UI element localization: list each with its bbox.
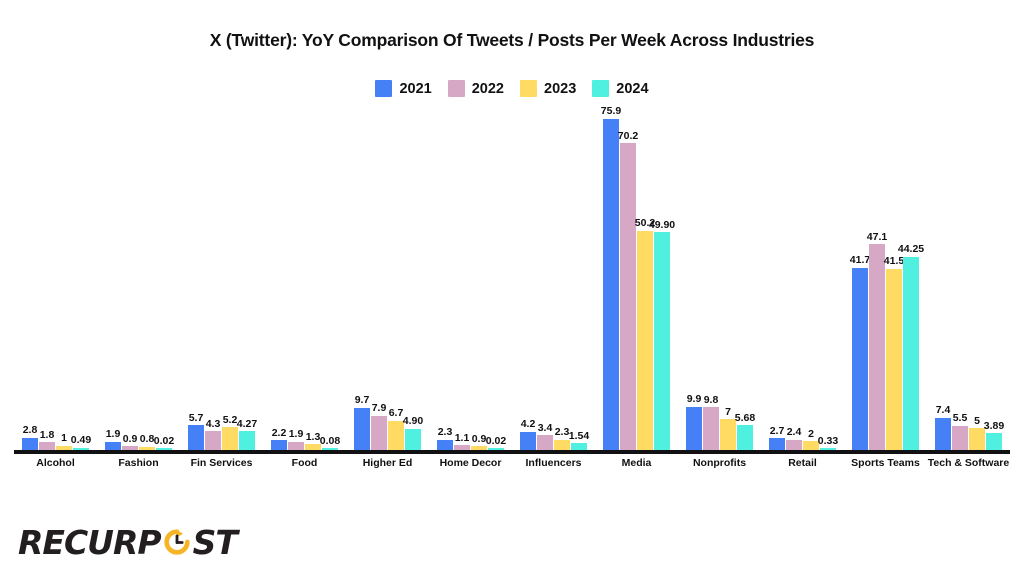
bar-rect[interactable] xyxy=(22,438,38,450)
chart-title: X (Twitter): YoY Comparison Of Tweets / … xyxy=(0,30,1024,51)
x-axis-label-influencers: Influencers xyxy=(525,457,581,469)
x-axis-category-labels: AlcoholFashionFin ServicesFoodHigher EdH… xyxy=(14,457,1010,473)
bar-2022[interactable]: 9.8 xyxy=(703,105,719,450)
bar-rect[interactable] xyxy=(39,442,55,450)
bar-rect[interactable] xyxy=(869,244,885,450)
bar-rect[interactable] xyxy=(603,119,619,450)
bar-2023[interactable]: 5 xyxy=(969,105,985,450)
bar-value-label: 5.5 xyxy=(953,413,968,424)
bar-value-label: 2.7 xyxy=(770,426,785,437)
bar-rect[interactable] xyxy=(786,440,802,450)
logo-text-part1: RECURP xyxy=(18,526,161,559)
bar-value-label: 5.68 xyxy=(735,413,755,424)
bar-rect[interactable] xyxy=(437,440,453,450)
bar-value-label: 7.9 xyxy=(372,403,387,414)
bar-value-label: 70.2 xyxy=(618,131,638,142)
bar-value-label: 5 xyxy=(974,416,980,427)
bar-rect[interactable] xyxy=(105,442,121,450)
bar-2022[interactable]: 2.4 xyxy=(786,105,802,450)
bar-2021[interactable]: 2.8 xyxy=(22,105,38,450)
bar-value-label: 0.9 xyxy=(123,434,138,445)
bar-2024[interactable]: 3.89 xyxy=(986,105,1002,450)
x-axis-label-fashion: Fashion xyxy=(118,457,158,469)
legend-label-2023: 2023 xyxy=(544,81,576,97)
chart-legend: 2021202220232024 xyxy=(0,80,1024,97)
bar-2024[interactable]: 4.27 xyxy=(239,105,255,450)
bar-value-label: 0.02 xyxy=(486,436,506,447)
bar-2022[interactable]: 1.8 xyxy=(39,105,55,450)
bar-2021[interactable]: 9.7 xyxy=(354,105,370,450)
bar-group: 2.21.91.30.08 xyxy=(271,105,338,450)
bar-value-label: 75.9 xyxy=(601,106,621,117)
bar-2022[interactable]: 7.9 xyxy=(371,105,387,450)
bar-value-label: 2.8 xyxy=(23,425,38,436)
bar-2024[interactable]: 5.68 xyxy=(737,105,753,450)
bar-value-label: 44.25 xyxy=(898,244,924,255)
bar-rect[interactable] xyxy=(354,408,370,450)
bar-value-label: 5.7 xyxy=(189,413,204,424)
bar-rect[interactable] xyxy=(637,231,653,450)
bar-2023[interactable]: 1 xyxy=(56,105,72,450)
bar-value-label: 1.3 xyxy=(306,432,321,443)
x-axis-label-alcohol: Alcohol xyxy=(36,457,75,469)
bar-2024[interactable]: 49.90 xyxy=(654,105,670,450)
legend-item-2023[interactable]: 2023 xyxy=(520,80,576,97)
bar-2021[interactable]: 4.2 xyxy=(520,105,536,450)
bar-2021[interactable]: 9.9 xyxy=(686,105,702,450)
bar-rect[interactable] xyxy=(271,440,287,450)
logo-wordmark: RECURP ST xyxy=(18,526,237,559)
bar-value-label: 4.27 xyxy=(237,419,257,430)
bar-2021[interactable]: 2.2 xyxy=(271,105,287,450)
bar-2022[interactable]: 1.9 xyxy=(288,105,304,450)
bar-2021[interactable]: 2.3 xyxy=(437,105,453,450)
bar-2022[interactable]: 0.9 xyxy=(122,105,138,450)
bar-group: 9.77.96.74.90 xyxy=(354,105,421,450)
bar-2024[interactable]: 44.25 xyxy=(903,105,919,450)
bar-group: 7.45.553.89 xyxy=(935,105,1002,450)
bar-rect[interactable] xyxy=(537,435,553,450)
bar-rect[interactable] xyxy=(620,143,636,450)
bar-value-label: 0.9 xyxy=(472,434,487,445)
bar-value-label: 0.49 xyxy=(71,435,91,446)
legend-item-2022[interactable]: 2022 xyxy=(448,80,504,97)
bar-value-label: 1.1 xyxy=(455,433,470,444)
legend-label-2024: 2024 xyxy=(616,81,648,97)
bar-value-label: 49.90 xyxy=(649,220,675,231)
legend-label-2022: 2022 xyxy=(472,81,504,97)
x-axis-label-retail: Retail xyxy=(788,457,817,469)
bar-rect[interactable] xyxy=(720,419,736,450)
bar-value-label: 0.02 xyxy=(154,436,174,447)
bar-value-label: 2.4 xyxy=(787,427,802,438)
bar-group: 9.99.875.68 xyxy=(686,105,753,450)
bar-group: 5.74.35.24.27 xyxy=(188,105,255,450)
bar-rect[interactable] xyxy=(388,421,404,450)
bar-2022[interactable]: 4.3 xyxy=(205,105,221,450)
bar-2023[interactable]: 5.2 xyxy=(222,105,238,450)
bar-rect[interactable] xyxy=(769,438,785,450)
bar-rect[interactable] xyxy=(803,441,819,450)
bar-rect[interactable] xyxy=(205,431,221,450)
legend-swatch-2022 xyxy=(448,80,465,97)
x-axis-label-food: Food xyxy=(292,457,318,469)
bar-2021[interactable]: 1.9 xyxy=(105,105,121,450)
bar-value-label: 9.8 xyxy=(704,395,719,406)
bar-rect[interactable] xyxy=(239,431,255,450)
bar-value-label: 7.4 xyxy=(936,405,951,416)
bar-rect[interactable] xyxy=(935,418,951,450)
bar-value-label: 7 xyxy=(725,407,731,418)
legend-item-2021[interactable]: 2021 xyxy=(375,80,431,97)
bar-2024[interactable]: 0.33 xyxy=(820,105,836,450)
bar-rect[interactable] xyxy=(686,407,702,450)
bar-2023[interactable]: 2 xyxy=(803,105,819,450)
bar-value-label: 4.3 xyxy=(206,419,221,430)
clock-icon xyxy=(162,527,192,557)
bar-rect[interactable] xyxy=(288,442,304,450)
bar-2021[interactable]: 2.7 xyxy=(769,105,785,450)
bar-2021[interactable]: 7.4 xyxy=(935,105,951,450)
bar-2024[interactable]: 0.49 xyxy=(73,105,89,450)
bar-2022[interactable]: 1.1 xyxy=(454,105,470,450)
bar-2022[interactable]: 70.2 xyxy=(620,105,636,450)
bar-rect[interactable] xyxy=(405,429,421,450)
bar-rect[interactable] xyxy=(969,428,985,450)
x-axis-label-nonprofits: Nonprofits xyxy=(693,457,746,469)
bar-2024[interactable]: 0.08 xyxy=(322,105,338,450)
plot-area: 2.81.810.491.90.90.80.025.74.35.24.272.2… xyxy=(14,105,1010,450)
bar-rect[interactable] xyxy=(886,269,902,450)
x-axis-label-sports-teams: Sports Teams xyxy=(851,457,920,469)
bar-rect[interactable] xyxy=(520,432,536,450)
bar-value-label: 4.2 xyxy=(521,419,536,430)
bar-group: 75.970.250.249.90 xyxy=(603,105,670,450)
bar-group: 1.90.90.80.02 xyxy=(105,105,172,450)
bar-value-label: 2.3 xyxy=(438,427,453,438)
bar-value-label: 4.90 xyxy=(403,416,423,427)
x-axis-label-fin-services: Fin Services xyxy=(191,457,253,469)
chart-container: X (Twitter): YoY Comparison Of Tweets / … xyxy=(0,0,1024,576)
bar-2022[interactable]: 3.4 xyxy=(537,105,553,450)
x-axis-label-media: Media xyxy=(622,457,652,469)
bar-rect[interactable] xyxy=(737,425,753,450)
bar-rect[interactable] xyxy=(903,257,919,450)
bar-group: 2.72.420.33 xyxy=(769,105,836,450)
bar-value-label: 6.7 xyxy=(389,408,404,419)
bar-value-label: 2 xyxy=(808,429,814,440)
bar-value-label: 1 xyxy=(61,433,67,444)
bar-2023[interactable]: 0.9 xyxy=(471,105,487,450)
recurpost-logo: RECURP ST xyxy=(18,522,237,562)
bar-rect[interactable] xyxy=(703,407,719,450)
bar-2023[interactable]: 1.3 xyxy=(305,105,321,450)
bar-2024[interactable]: 1.54 xyxy=(571,105,587,450)
bar-value-label: 5.2 xyxy=(223,415,238,426)
bar-2024[interactable]: 0.02 xyxy=(488,105,504,450)
legend-swatch-2023 xyxy=(520,80,537,97)
bar-value-label: 2.2 xyxy=(272,428,287,439)
bar-2023[interactable]: 7 xyxy=(720,105,736,450)
bar-value-label: 3.89 xyxy=(984,421,1004,432)
bar-rect[interactable] xyxy=(952,426,968,450)
bar-value-label: 0.08 xyxy=(320,436,340,447)
bar-rect[interactable] xyxy=(371,416,387,451)
legend-swatch-2021 xyxy=(375,80,392,97)
bar-2021[interactable]: 41.7 xyxy=(852,105,868,450)
x-axis-label-tech-software: Tech & Software xyxy=(928,457,1010,469)
bar-value-label: 1.9 xyxy=(106,429,121,440)
bar-2022[interactable]: 47.1 xyxy=(869,105,885,450)
bar-value-label: 3.4 xyxy=(538,423,553,434)
bar-group: 41.747.141.544.25 xyxy=(852,105,919,450)
bar-value-label: 1.8 xyxy=(40,430,55,441)
bar-rect[interactable] xyxy=(554,440,570,450)
bar-2024[interactable]: 0.02 xyxy=(156,105,172,450)
bar-rect[interactable] xyxy=(222,427,238,450)
bar-value-label: 9.9 xyxy=(687,394,702,405)
bar-2023[interactable]: 50.2 xyxy=(637,105,653,450)
bar-value-label: 9.7 xyxy=(355,395,370,406)
logo-text-part2: ST xyxy=(193,526,237,559)
bar-value-label: 1.9 xyxy=(289,429,304,440)
bar-2023[interactable]: 41.5 xyxy=(886,105,902,450)
bar-value-label: 47.1 xyxy=(867,232,887,243)
bar-2022[interactable]: 5.5 xyxy=(952,105,968,450)
bar-2021[interactable]: 5.7 xyxy=(188,105,204,450)
x-axis-line xyxy=(14,450,1010,454)
bar-2023[interactable]: 2.3 xyxy=(554,105,570,450)
bar-value-label: 41.5 xyxy=(884,256,904,267)
x-axis-label-home-decor: Home Decor xyxy=(440,457,502,469)
bar-rect[interactable] xyxy=(852,268,868,450)
bar-value-label: 2.3 xyxy=(555,427,570,438)
x-axis-label-higher-ed: Higher Ed xyxy=(363,457,413,469)
bar-group: 2.31.10.90.02 xyxy=(437,105,504,450)
bar-2024[interactable]: 4.90 xyxy=(405,105,421,450)
legend-item-2024[interactable]: 2024 xyxy=(592,80,648,97)
bar-rect[interactable] xyxy=(986,433,1002,450)
bar-value-label: 0.33 xyxy=(818,436,838,447)
bar-value-label: 0.8 xyxy=(140,434,155,445)
legend-label-2021: 2021 xyxy=(399,81,431,97)
bar-2021[interactable]: 75.9 xyxy=(603,105,619,450)
bar-value-label: 41.7 xyxy=(850,255,870,266)
bar-group: 4.23.42.31.54 xyxy=(520,105,587,450)
bar-rect[interactable] xyxy=(571,443,587,450)
bar-group: 2.81.810.49 xyxy=(22,105,89,450)
bar-2023[interactable]: 6.7 xyxy=(388,105,404,450)
legend-swatch-2024 xyxy=(592,80,609,97)
bar-rect[interactable] xyxy=(188,425,204,450)
bar-rect[interactable] xyxy=(654,232,670,450)
bar-value-label: 1.54 xyxy=(569,431,589,442)
bar-2023[interactable]: 0.8 xyxy=(139,105,155,450)
